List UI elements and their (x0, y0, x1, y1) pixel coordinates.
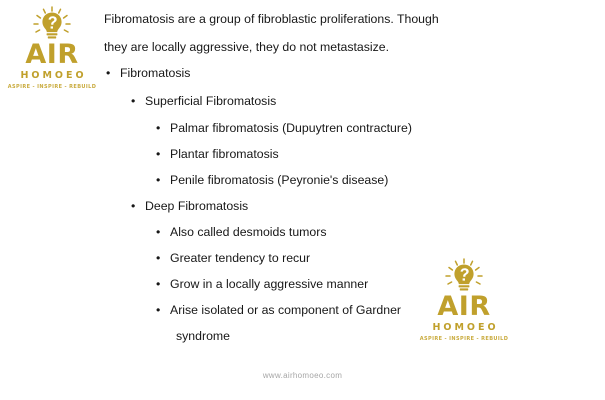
bullet-icon: • (106, 67, 120, 79)
outline-item-label: Palmar fibromatosis (Dupuytren contractu… (170, 122, 412, 134)
outline-item-label: Superficial Fibromatosis (145, 95, 276, 107)
outline-item-level-1: •Fibromatosis (106, 67, 190, 79)
bullet-icon: • (131, 95, 145, 107)
slide-content: Fibromatosis are a group of fibroblastic… (0, 0, 605, 400)
outline-item-level-3: •Also called desmoids tumors (156, 226, 327, 238)
outline-item-level-2: •Deep Fibromatosis (131, 200, 248, 212)
outline-item-label: Also called desmoids tumors (170, 226, 327, 238)
outline-item-label: Greater tendency to recur (170, 252, 310, 264)
bullet-icon: • (156, 304, 170, 316)
bullet-icon: • (156, 174, 170, 186)
bullet-icon: • (156, 148, 170, 160)
outline-item-level-2: •Superficial Fibromatosis (131, 95, 276, 107)
outline-item-level-3: •Greater tendency to recur (156, 252, 310, 264)
outline-continuation-line: syndrome (176, 330, 230, 342)
outline-item-level-3: •Penile fibromatosis (Peyronie's disease… (156, 174, 388, 186)
bullet-icon: • (156, 278, 170, 290)
slide-canvas: AIR HOMOEO ASPIRE - INSPIRE - REBUILD (0, 0, 605, 400)
outline-item-level-3: •Grow in a locally aggressive manner (156, 278, 368, 290)
bullet-icon: • (131, 200, 145, 212)
outline-item-label: Grow in a locally aggressive manner (170, 278, 368, 290)
outline-item-level-3: •Arise isolated or as component of Gardn… (156, 304, 401, 316)
outline-item-label: Penile fibromatosis (Peyronie's disease) (170, 174, 388, 186)
intro-paragraph-line-1: Fibromatosis are a group of fibroblastic… (104, 13, 439, 25)
bullet-icon: • (156, 252, 170, 264)
bullet-icon: • (156, 122, 170, 134)
outline-item-label: Fibromatosis (120, 67, 190, 79)
outline-item-label: Deep Fibromatosis (145, 200, 248, 212)
footer-url: www.airhomoeo.com (0, 372, 605, 380)
outline-item-level-3: •Plantar fibromatosis (156, 148, 279, 160)
bullet-icon: • (156, 226, 170, 238)
outline-item-level-3: •Palmar fibromatosis (Dupuytren contract… (156, 122, 412, 134)
intro-paragraph-line-2: they are locally aggressive, they do not… (104, 41, 389, 53)
outline-item-label: Arise isolated or as component of Gardne… (170, 304, 401, 316)
outline-item-label: Plantar fibromatosis (170, 148, 279, 160)
